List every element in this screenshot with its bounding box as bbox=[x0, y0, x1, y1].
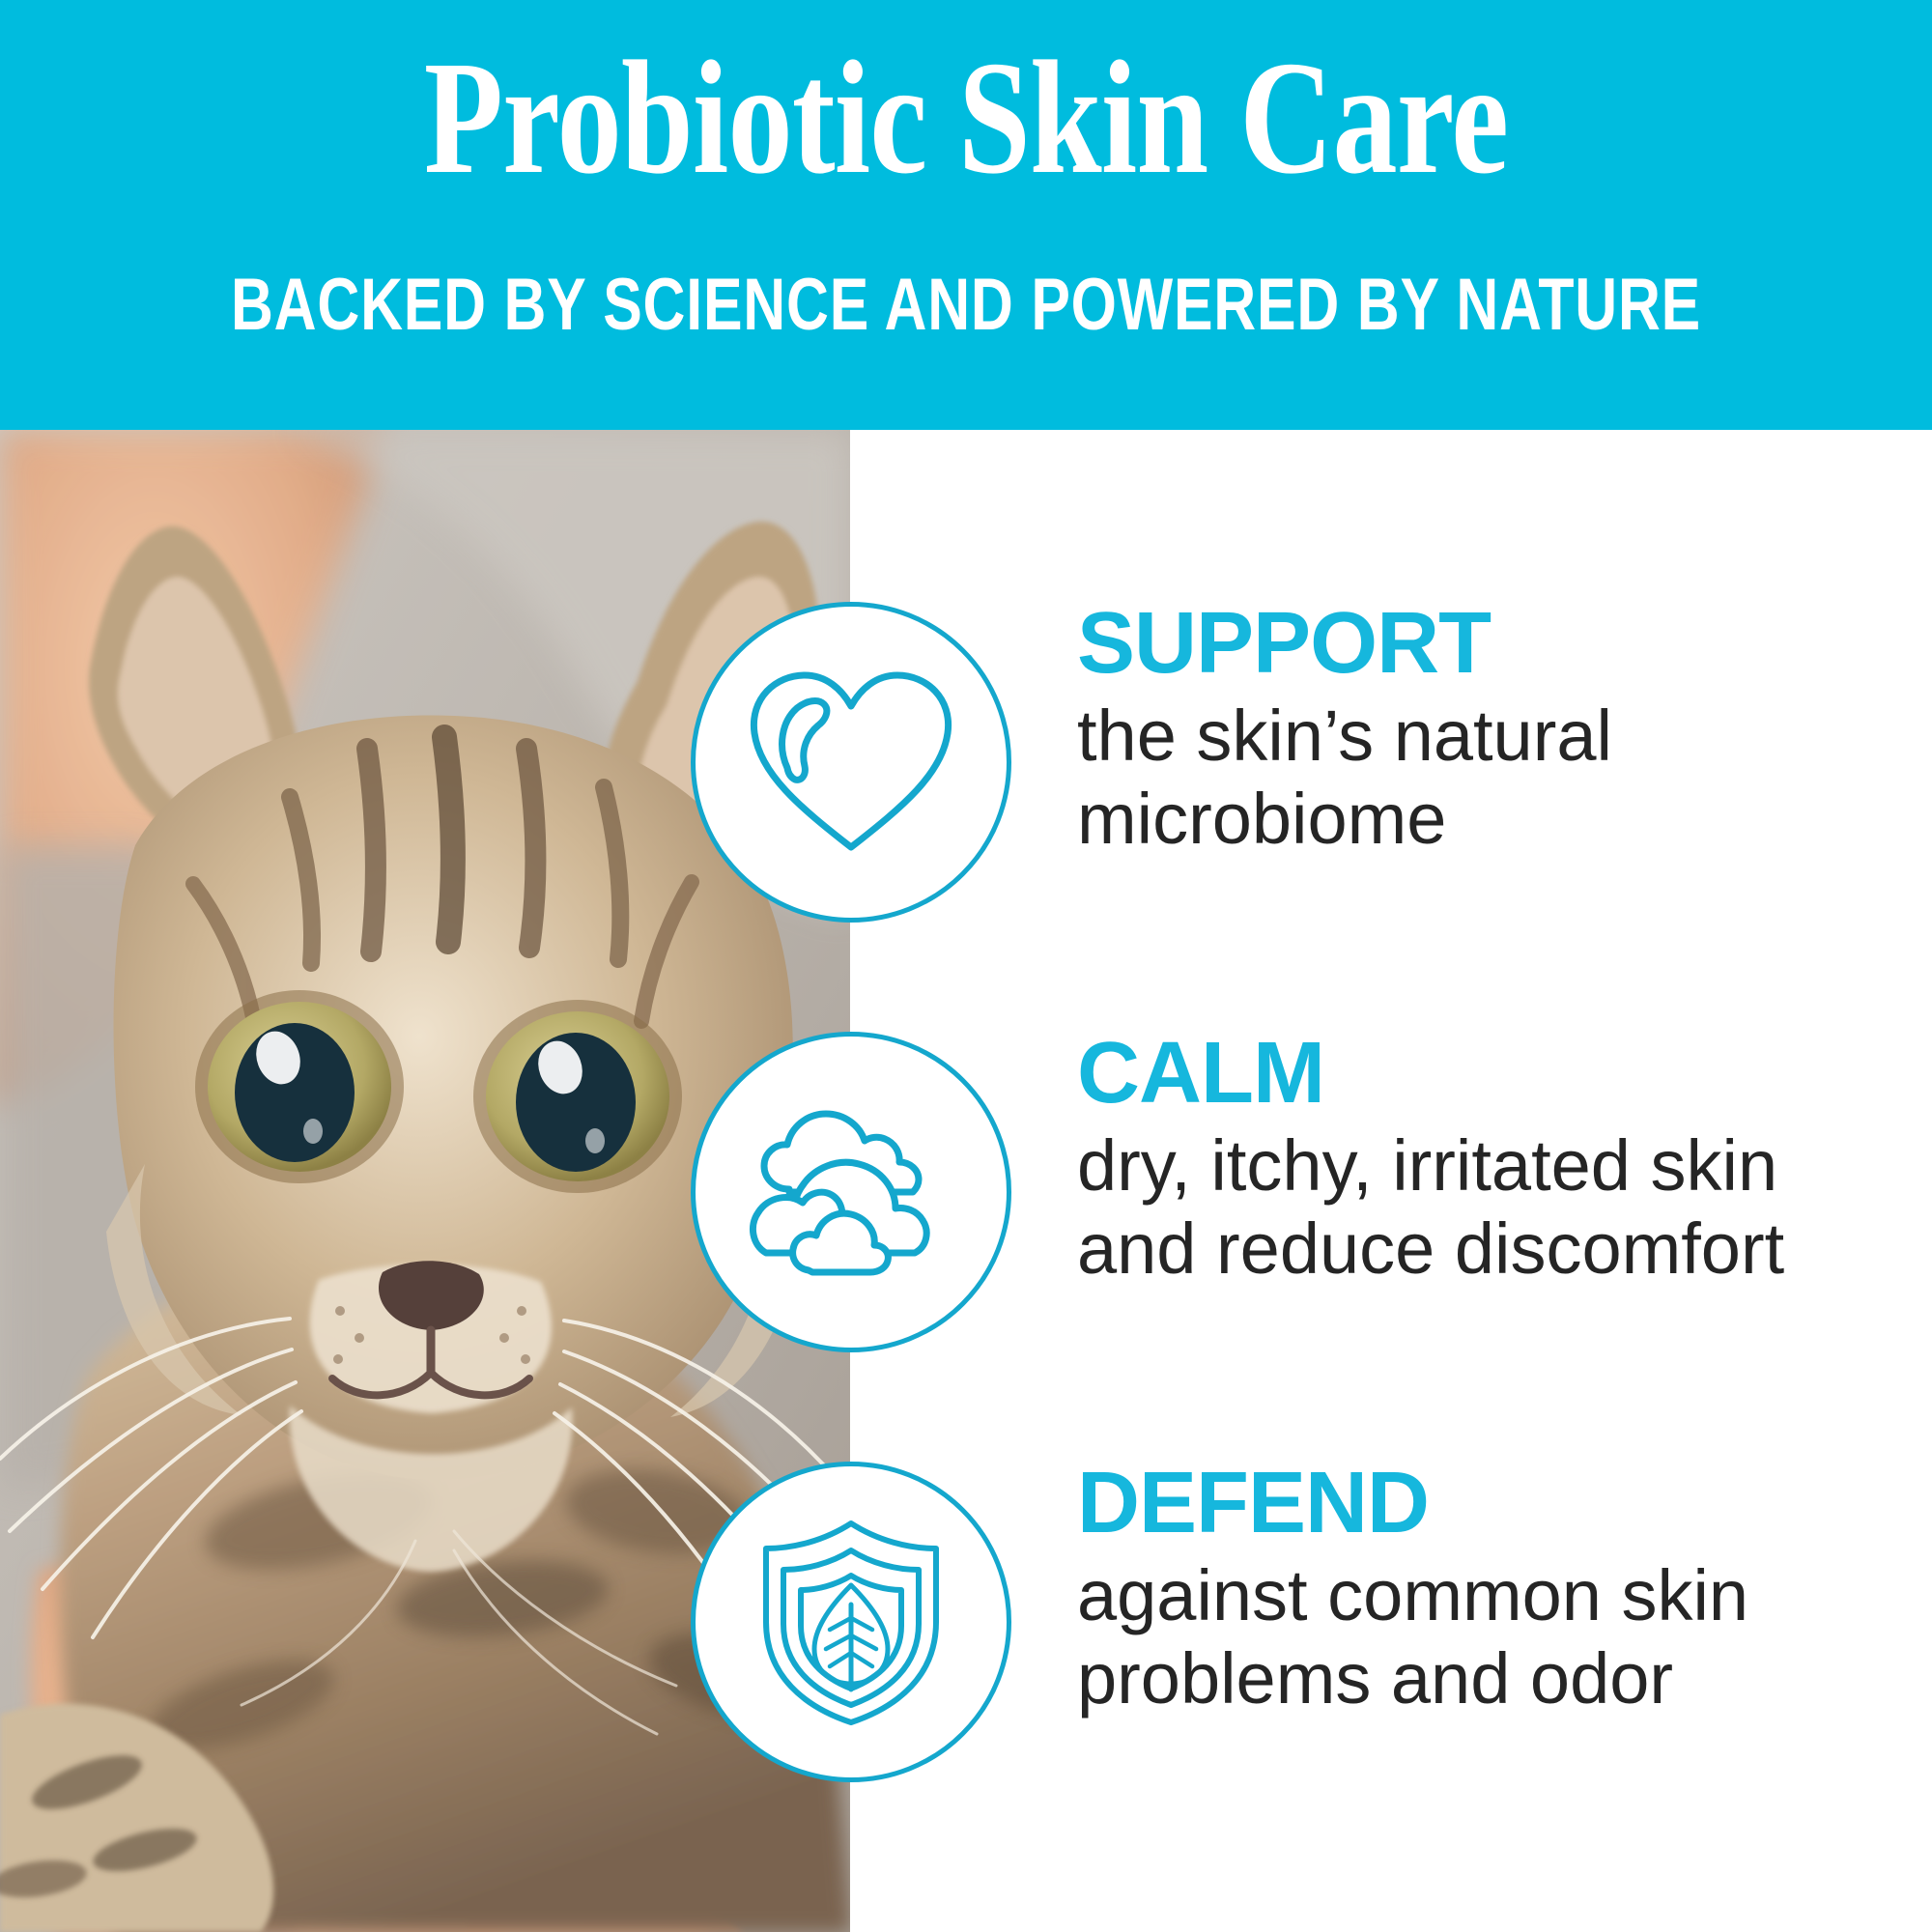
benefit-desc-line: problems and odor bbox=[1077, 1637, 1889, 1720]
benefit-desc-line: against common skin bbox=[1077, 1554, 1889, 1637]
shield-leaf-icon bbox=[754, 1516, 948, 1728]
benefit-title-support: SUPPORT bbox=[1077, 602, 1889, 685]
heart-icon-badge bbox=[691, 602, 1011, 923]
heart-icon bbox=[745, 666, 957, 859]
header-banner: Probiotic Skin Care BACKED BY SCIENCE AN… bbox=[0, 0, 1932, 430]
benefit-text-calm: CALM dry, itchy, irritated skin and redu… bbox=[1077, 1032, 1889, 1291]
page-title: Probiotic Skin Care bbox=[193, 37, 1739, 199]
benefit-desc-line: dry, itchy, irritated skin bbox=[1077, 1124, 1889, 1207]
benefit-desc-line: the skin’s natural bbox=[1077, 695, 1889, 778]
benefit-text-support: SUPPORT the skin’s natural microbiome bbox=[1077, 602, 1889, 861]
clouds-icon bbox=[745, 1100, 957, 1284]
benefit-desc-defend: against common skin problems and odor bbox=[1077, 1554, 1889, 1720]
benefit-desc-line: microbiome bbox=[1077, 778, 1889, 861]
benefit-desc-support: the skin’s natural microbiome bbox=[1077, 695, 1889, 861]
clouds-icon-badge bbox=[691, 1032, 1011, 1352]
benefit-title-defend: DEFEND bbox=[1077, 1462, 1889, 1545]
benefit-row-defend: DEFEND against common skin problems and … bbox=[0, 1462, 1932, 1790]
benefit-row-support: SUPPORT the skin’s natural microbiome bbox=[0, 602, 1932, 930]
shield-leaf-icon-badge bbox=[691, 1462, 1011, 1782]
benefit-text-defend: DEFEND against common skin problems and … bbox=[1077, 1462, 1889, 1720]
benefit-desc-calm: dry, itchy, irritated skin and reduce di… bbox=[1077, 1124, 1889, 1291]
benefit-row-calm: CALM dry, itchy, irritated skin and redu… bbox=[0, 1032, 1932, 1360]
benefit-desc-line: and reduce discomfort bbox=[1077, 1207, 1889, 1291]
promo-graphic: Probiotic Skin Care BACKED BY SCIENCE AN… bbox=[0, 0, 1932, 1932]
benefit-title-calm: CALM bbox=[1077, 1032, 1889, 1115]
page-subtitle: BACKED BY SCIENCE AND POWERED BY NATURE bbox=[193, 269, 1739, 342]
